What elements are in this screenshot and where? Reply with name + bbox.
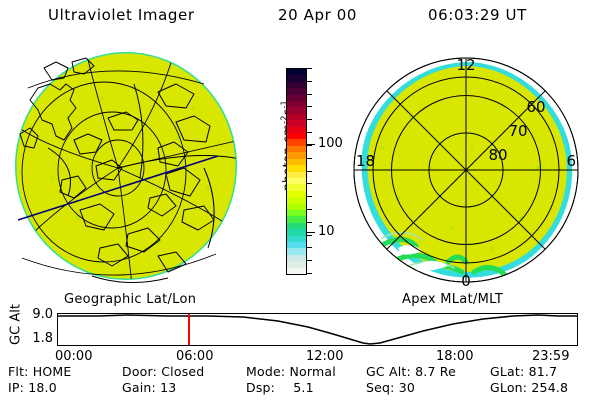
status-gain-value: 13 — [160, 380, 176, 395]
mlt-label-12: 12 — [456, 56, 475, 74]
colorbar-minor-tick-14 — [307, 247, 312, 248]
mlat-label-80: 80 — [488, 146, 507, 164]
colorbar-minor-tick-16 — [307, 273, 312, 274]
colorbar-minor-tick-8 — [307, 171, 312, 172]
status-gcalt-value: 8.7 Re — [415, 364, 456, 379]
colorbar-tick-label-100: 100 — [318, 137, 343, 150]
status-footer: Flt: HOME Door: Closed Mode: Normal GC A… — [0, 364, 600, 398]
status-door-value: Closed — [161, 364, 204, 379]
status-mode-label: Mode: — [246, 364, 285, 379]
altitude-plot-area[interactable] — [57, 313, 578, 346]
colorbar-minor-tick-3 — [307, 106, 312, 107]
colorbar-minor-tick-10 — [307, 196, 312, 197]
status-dsp: Dsp: 5.1 — [246, 380, 314, 395]
altitude-xtick-1200: 12:00 — [306, 349, 343, 364]
header-bar: Ultraviolet Imager 20 Apr 00 06:03:29 UT — [0, 6, 600, 30]
altitude-xtick-0600: 06:00 — [176, 349, 213, 364]
colorbar-minor-tick-5 — [307, 132, 312, 133]
mlt-label-0: 0 — [461, 272, 471, 290]
status-seq-label: Seq: — [366, 380, 395, 395]
colorbar-minor-tick-4 — [307, 119, 312, 120]
mlt-label-6: 6 — [566, 152, 576, 170]
colorbar-ticks: 100 10 — [307, 68, 341, 275]
status-glat-label: GLat: — [490, 364, 524, 379]
altitude-ytick-high: 9.0 — [23, 307, 53, 322]
colorbar-major-tick-1 — [307, 232, 315, 233]
status-glat-value: 81.7 — [529, 364, 558, 379]
colorbar-minor-tick-6 — [307, 145, 312, 146]
geographic-image-panel[interactable] — [8, 48, 260, 290]
colorbar-legend: photon cm-2s-1 100 10 — [268, 60, 342, 285]
altitude-curve-svg — [58, 314, 577, 345]
colorbar-minor-tick-9 — [307, 183, 312, 184]
altitude-xtick-1800: 18:00 — [436, 349, 473, 364]
status-flight-label: Flt: — [8, 364, 29, 379]
colorbar-minor-tick-11 — [307, 209, 312, 210]
status-seq-value: 30 — [399, 380, 415, 395]
status-glon: GLon: 254.8 — [490, 380, 568, 395]
apex-polar-svg: 12 6 0 18 60 70 80 — [342, 48, 594, 290]
mlt-spokes — [354, 58, 578, 282]
altitude-xtick-0000: 00:00 — [55, 349, 92, 364]
colorbar-minor-tick-1 — [307, 81, 312, 82]
mlat-label-70: 70 — [508, 122, 527, 140]
colorbar-segment-31 — [287, 268, 306, 274]
mlt-label-18: 18 — [356, 152, 375, 170]
status-gcalt: GC Alt: 8.7 Re — [366, 364, 456, 379]
colorbar-tick-label-10: 10 — [318, 225, 335, 238]
geographic-globe-svg — [8, 48, 260, 290]
mlat-label-60: 60 — [526, 98, 545, 116]
colorbar-minor-tick-0 — [307, 68, 312, 69]
apex-polar-panel[interactable]: 12 6 0 18 60 70 80 — [342, 48, 594, 290]
status-seq: Seq: 30 — [366, 380, 415, 395]
altitude-xtick-2359: 23:59 — [532, 349, 569, 364]
status-ip-value: 18.0 — [28, 380, 57, 395]
status-glon-value: 254.8 — [531, 380, 568, 395]
status-ip: IP: 18.0 — [8, 380, 57, 395]
status-door-label: Door: — [122, 364, 157, 379]
colorbar-minor-tick-12 — [307, 222, 312, 223]
observation-time: 06:03:29 UT — [428, 6, 527, 24]
status-glat: GLat: 81.7 — [490, 364, 557, 379]
altitude-y-axis-label: GC Alt — [9, 299, 24, 351]
colorbar-gradient — [286, 68, 307, 275]
colorbar-major-tick-0 — [307, 144, 315, 145]
observation-date: 20 Apr 00 — [278, 6, 357, 24]
status-ip-label: IP: — [8, 380, 24, 395]
instrument-title: Ultraviolet Imager — [48, 6, 195, 24]
status-gain: Gain: 13 — [122, 380, 176, 395]
status-glon-label: GLon: — [490, 380, 527, 395]
status-mode: Mode: Normal — [246, 364, 336, 379]
status-gcalt-label: GC Alt: — [366, 364, 411, 379]
status-flight: Flt: HOME — [8, 364, 72, 379]
status-gain-label: Gain: — [122, 380, 156, 395]
status-dsp-value: 5.1 — [293, 380, 313, 395]
gc-altitude-trace — [58, 315, 577, 344]
altitude-ytick-low: 1.8 — [23, 331, 53, 346]
status-dsp-label: Dsp: — [246, 380, 275, 395]
colorbar-minor-tick-7 — [307, 158, 312, 159]
status-flight-value: HOME — [33, 364, 72, 379]
colorbar-minor-tick-2 — [307, 94, 312, 95]
colorbar-minor-tick-13 — [307, 235, 312, 236]
colorbar-minor-tick-15 — [307, 260, 312, 261]
status-door: Door: Closed — [122, 364, 204, 379]
status-mode-value: Normal — [289, 364, 335, 379]
altitude-strip-chart[interactable]: GC Alt 9.0 1.8 00:00 06:00 12:00 18:00 2… — [0, 305, 600, 360]
